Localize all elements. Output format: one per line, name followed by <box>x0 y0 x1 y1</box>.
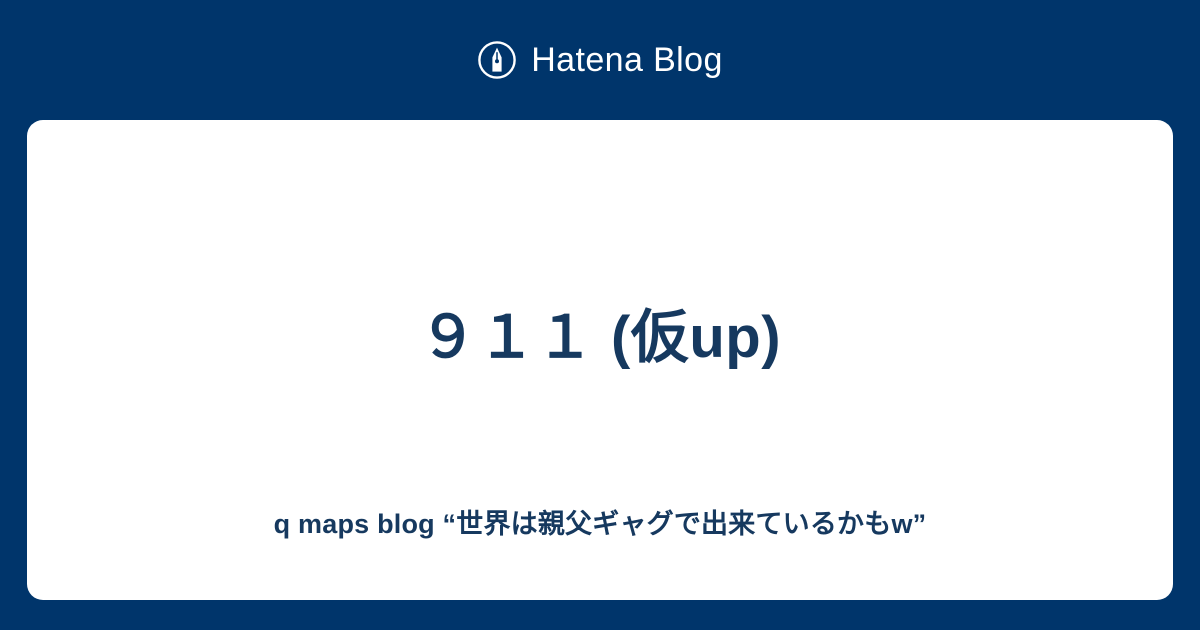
share-card: ９１１ (仮up) q maps blog “世界は親父ギャグで出来ているかもw… <box>27 120 1173 600</box>
hatena-logo <box>477 40 517 80</box>
blog-title: q maps blog “世界は親父ギャグで出来ているかもw” <box>27 507 1173 542</box>
hatena-pen-nib-icon <box>477 40 517 80</box>
hatena-blog-brand: Hatena Blog <box>0 0 1200 120</box>
entry-title: ９１１ (仮up) <box>27 304 1173 372</box>
share-card-content: ９１１ (仮up) q maps blog “世界は親父ギャグで出来ているかもw… <box>27 120 1173 600</box>
brand-name-label: Hatena Blog <box>531 43 723 77</box>
